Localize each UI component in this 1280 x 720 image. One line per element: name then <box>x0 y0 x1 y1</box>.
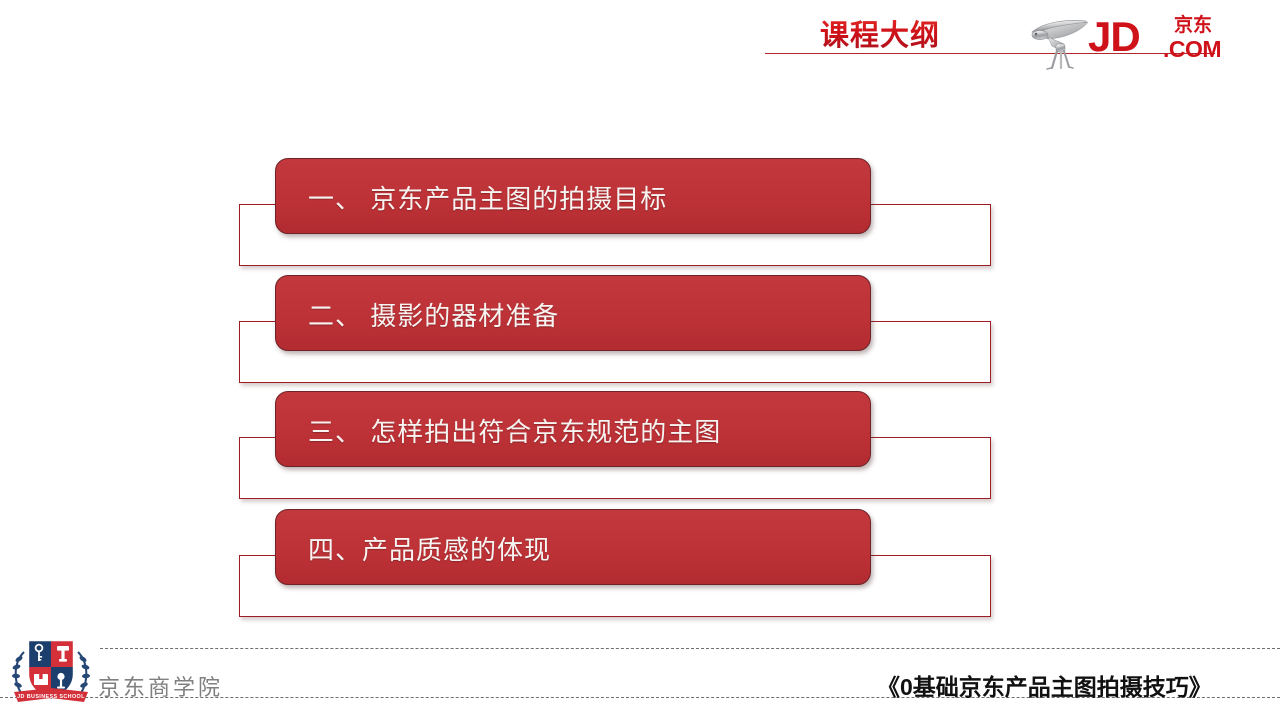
outline-item-4-chip[interactable]: 四、产品质感的体现 <box>275 509 871 585</box>
outline-item-4-label: 四、产品质感的体现 <box>308 510 551 586</box>
jd-business-school-badge-icon: JD BUSINESS SCHOOL <box>8 630 94 712</box>
outline-item-1-chip[interactable]: 一、 京东产品主图的拍摄目标 <box>275 158 871 234</box>
slide-footer: JD BUSINESS SCHOOL 京东商学院 《0基础京东产品主图拍摄技巧》 <box>0 626 1280 720</box>
school-name-label: 京东商学院 <box>98 670 223 702</box>
outline-item-2-label: 二、 摄影的器材准备 <box>308 276 559 352</box>
outline-item-4[interactable]: 四、产品质感的体现 <box>239 509 993 619</box>
outline-item-1[interactable]: 一、 京东产品主图的拍摄目标 <box>239 158 993 268</box>
outline-list: 一、 京东产品主图的拍摄目标 二、 摄影的器材准备 三、 怎样拍出符合京东规范的… <box>0 0 1280 720</box>
outline-item-3[interactable]: 三、 怎样拍出符合京东规范的主图 <box>239 391 993 501</box>
package-box-icon <box>34 674 48 685</box>
footer-dashed-line-top <box>100 648 1280 649</box>
outline-item-3-label: 三、 怎样拍出符合京东规范的主图 <box>308 392 721 468</box>
slide-root: 课程大纲 <box>0 0 1280 720</box>
outline-item-2-chip[interactable]: 二、 摄影的器材准备 <box>275 275 871 351</box>
outline-item-2[interactable]: 二、 摄影的器材准备 <box>239 275 993 385</box>
badge-banner-text: JD BUSINESS SCHOOL <box>17 694 85 700</box>
course-title-label: 《0基础京东产品主图拍摄技巧》 <box>877 668 1212 702</box>
outline-item-1-label: 一、 京东产品主图的拍摄目标 <box>308 159 667 235</box>
outline-item-3-chip[interactable]: 三、 怎样拍出符合京东规范的主图 <box>275 391 871 467</box>
